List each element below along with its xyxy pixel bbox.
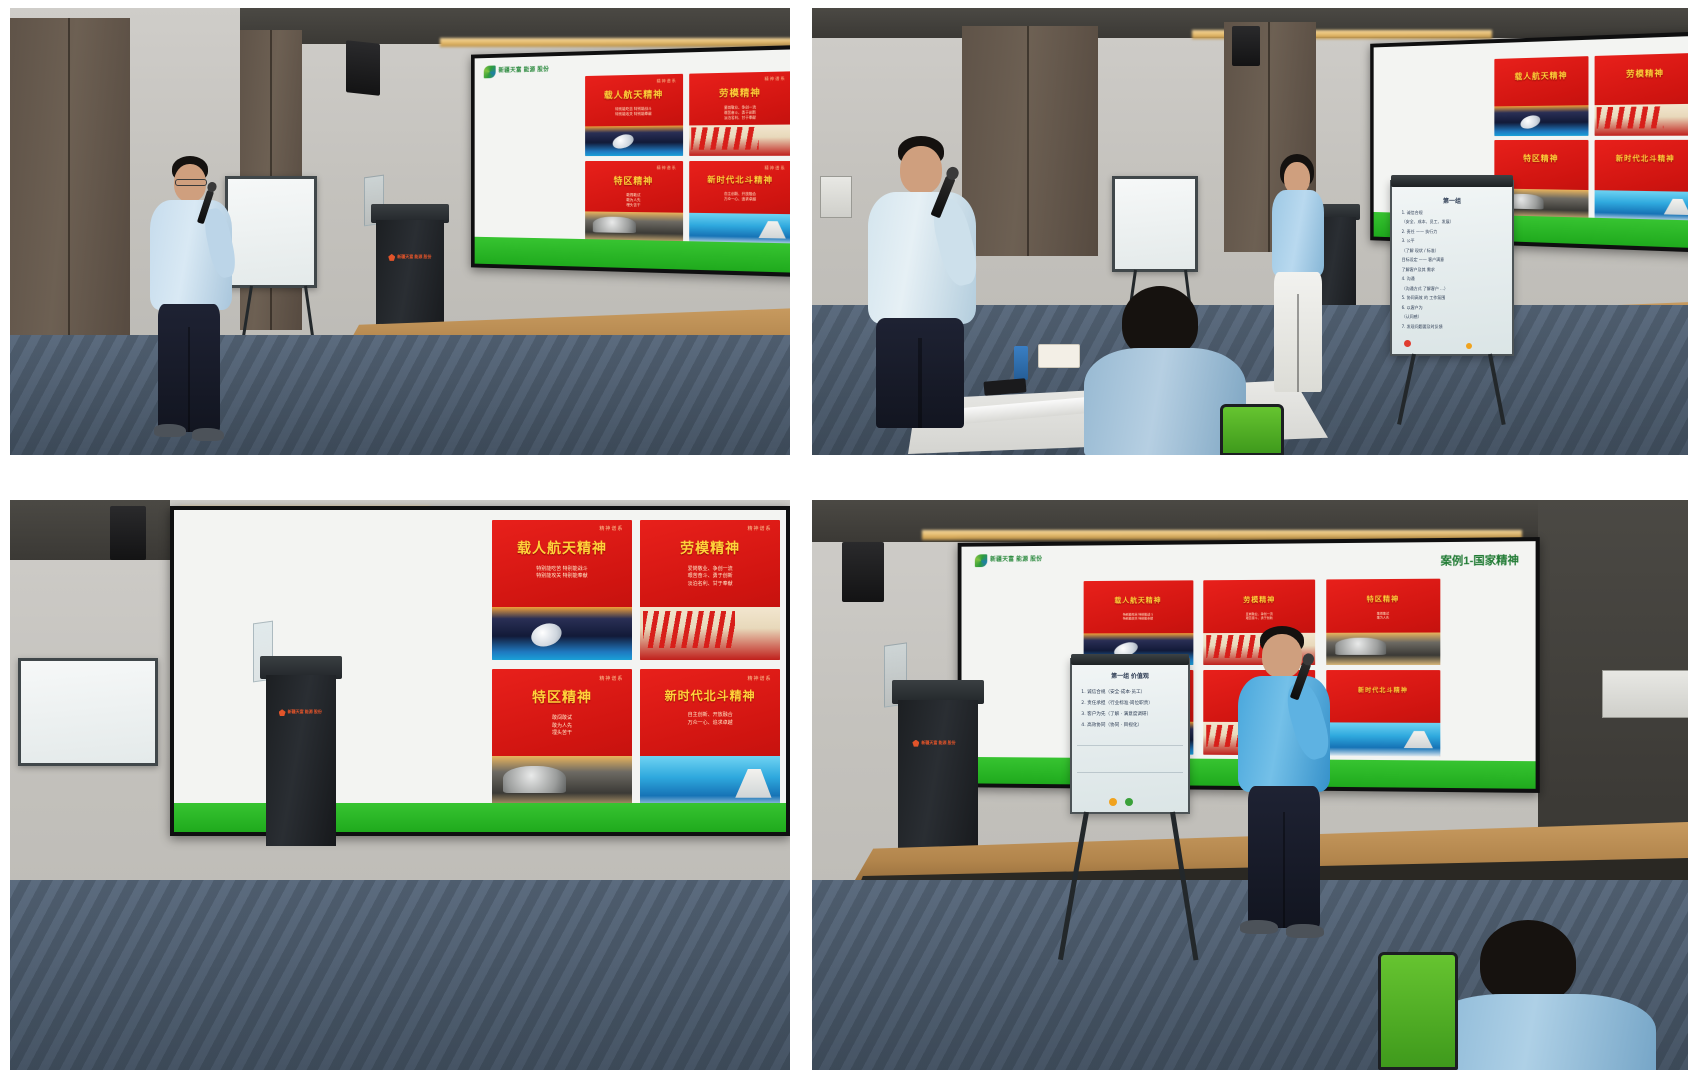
- leaf-icon: [484, 66, 496, 79]
- seated-attendee-right: [1424, 920, 1654, 1070]
- flipchart-note-line: 7. 发现问题要及时反馈: [1402, 324, 1505, 329]
- poster-subtitle-line: 艰苦奋斗、勇于创新: [1204, 616, 1316, 621]
- poster-card: 载人航天精神 特别能吃苦 特别能战斗 特别能攻关 特别能奉献: [1083, 581, 1193, 665]
- poster-subtitle-line: 埋头苦干: [492, 730, 632, 737]
- magnet-icon: [1466, 343, 1472, 349]
- flame-icon: [279, 709, 286, 716]
- poster-corner-label: 精神谱系: [657, 165, 677, 171]
- flame-icon: [912, 740, 919, 747]
- poster-title: 载人航天精神: [585, 87, 683, 102]
- flipchart-notes: 1. 诚信合规（安全·成本·员工） 2. 责任承担（行业标准·岗位职责） 3. …: [1081, 690, 1181, 734]
- magnet-icon: [1109, 798, 1117, 806]
- poster-subtitle-line: 特别能攻关 特别能奉献: [492, 573, 632, 580]
- poster-image-parade: [689, 124, 790, 156]
- poster-subtitle: 自主创新、开放融合 万众一心、追求卓越: [689, 192, 790, 203]
- poster-subtitle-line: 淡泊名利、甘于奉献: [689, 115, 790, 121]
- poster-image-astronaut: [492, 607, 632, 660]
- magnet-icon: [1125, 798, 1133, 806]
- flipchart-note-line: （沟通方式 了解客户 ...）: [1402, 286, 1505, 291]
- flipchart-note-line: 2. 责任承担（行业标准·岗位职责）: [1081, 701, 1181, 708]
- poster-grid: 精神谱系 载人航天精神 特别能吃苦 特别能战斗 特别能攻关 特别能奉献 精神谱系…: [492, 520, 780, 810]
- presenter-female: [1264, 154, 1354, 404]
- poster-title: 载人航天精神: [1083, 595, 1193, 605]
- whiteboard: [1112, 176, 1198, 272]
- presenter-shoe: [1286, 924, 1324, 938]
- wall-panel: [820, 176, 852, 218]
- poster-subtitle-line: 特别能攻关 特别能奉献: [585, 112, 683, 118]
- presenter: [132, 156, 252, 455]
- poster-subtitle-line: 艰苦奋斗、勇于创新: [640, 573, 780, 580]
- flipchart-note-line: 5. 协同高效 的 工作氛围: [1402, 295, 1505, 300]
- poster-image-parade: [1595, 104, 1688, 136]
- poster-subtitle-line: 埋头苦干: [585, 203, 683, 209]
- poster-subtitle-line: 特别能攻关 特别能奉献: [1083, 616, 1193, 621]
- poster-image-city: [585, 211, 683, 243]
- poster-title: 劳模精神: [1595, 66, 1688, 80]
- leaf-icon: [975, 554, 987, 567]
- poster-subtitle-line: 淡泊名利、甘于奉献: [640, 581, 780, 588]
- poster-card: 精神谱系 载人航天精神 特别能吃苦 特别能战斗 特别能攻关 特别能奉献: [492, 520, 632, 661]
- presenter-shoe: [1240, 920, 1278, 934]
- poster-corner-label: 精神谱系: [747, 675, 771, 682]
- wall-right-panel: [1538, 500, 1688, 830]
- poster-subtitle-line: 敢为人先: [1326, 615, 1440, 620]
- poster-title: 劳模精神: [689, 85, 790, 100]
- flipchart-note-line: 了解客户及其 需求: [1402, 267, 1505, 272]
- podium-logo: 新疆天富 能源 股份: [912, 740, 955, 747]
- poster-title: 特区精神: [492, 687, 632, 707]
- wood-door-left: [10, 18, 130, 368]
- led-screen: 新疆天富 能源 股份 精神谱系 载人航天精神 特别能吃苦 特别能战斗 特别能攻关…: [471, 45, 790, 277]
- glasses-icon: [175, 179, 207, 186]
- ceiling-speaker-icon: [110, 506, 146, 560]
- poster-corner-label: 精神谱系: [657, 78, 677, 84]
- photo-bottom-right[interactable]: 新疆天富 能源 股份 案例1-国家精神 载人航天精神 特别能吃苦 特别能战斗 特…: [812, 500, 1688, 1070]
- slide-title: 案例1-国家精神: [1441, 552, 1519, 569]
- flipchart-note-line: 4. 高效协同（协同 · 目视化）: [1081, 723, 1181, 730]
- poster-image-astronaut: [585, 125, 683, 156]
- poster-corner-label: 精神谱系: [747, 525, 771, 532]
- flipchart-note-line: （安全、成本、员工、发展）: [1402, 219, 1505, 224]
- podium-logo-text: 新疆天富 能源 股份: [288, 710, 322, 714]
- poster-card: 精神谱系 新时代北斗精神 自主创新、开放融合 万众一心、追求卓越: [640, 669, 780, 810]
- poster-subtitle-line: 敢为人先: [492, 723, 632, 730]
- poster-subtitle-line: 万众一心、追求卓越: [689, 197, 790, 203]
- flipchart-note-line: 1. 诚信合规（安全·成本·员工）: [1081, 690, 1181, 697]
- poster-title: 新时代北斗精神: [640, 687, 780, 704]
- slide-logo-text: 新疆天富 能源 股份: [498, 67, 549, 74]
- flipchart-note-line: 3. 公平: [1402, 238, 1505, 243]
- green-chair: [1220, 404, 1284, 455]
- poster-subtitle: 特别能吃苦 特别能战斗 特别能攻关 特别能奉献: [585, 106, 683, 118]
- wall-side-table: [1602, 670, 1688, 718]
- presenter-legs: [158, 304, 220, 432]
- poster-title: 劳模精神: [640, 538, 780, 558]
- flipchart-note-line: 4. 沟通: [1402, 276, 1505, 281]
- ceiling-speaker-icon: [842, 542, 884, 602]
- poster-title: 载人航天精神: [492, 538, 632, 558]
- green-chair: [1378, 952, 1458, 1070]
- poster-title: 载人航天精神: [1494, 69, 1589, 82]
- poster-card: 载人航天精神: [1494, 56, 1589, 136]
- poster-card: 精神谱系 特区精神 敢闯敢试 敢为人先 埋头苦干: [585, 161, 683, 243]
- poster-corner-label: 精神谱系: [765, 75, 786, 82]
- presenter-male: [864, 136, 1014, 436]
- podium-logo-text: 新疆天富 能源 股份: [397, 255, 431, 259]
- flipchart: 第一组 1. 诚信合规 （安全、成本、员工、发展） 2. 责任 —— 执行力 3…: [1390, 180, 1514, 356]
- presenter-head: [900, 146, 942, 194]
- poster-subtitle: 敢闯敢试 敢为人先 埋头苦干: [585, 193, 683, 210]
- poster-subtitle-line: 自主创新、开放融合: [640, 712, 780, 719]
- led-screen-content: 新疆天富 能源 股份 精神谱系 载人航天精神 特别能吃苦 特别能战斗 特别能攻关…: [475, 49, 790, 273]
- poster-title: 劳模精神: [1204, 594, 1316, 605]
- carpet-floor: [10, 335, 790, 455]
- poster-title: 特区精神: [585, 174, 683, 188]
- poster-card: 精神谱系 劳模精神 爱岗敬业、争创一流 艰苦奋斗、勇于创新 淡泊名利、甘于奉献: [640, 520, 780, 661]
- poster-subtitle-line: 万众一心、追求卓越: [640, 720, 780, 727]
- flipchart-notes: 1. 诚信合规 （安全、成本、员工、发展） 2. 责任 —— 执行力 3. 公平…: [1402, 210, 1505, 334]
- poster-card: 劳模精神: [1595, 53, 1688, 136]
- poster-subtitle: 爱岗敬业、争创一流 艰苦奋斗、勇于创新 淡泊名利、甘于奉献: [640, 566, 780, 588]
- poster-subtitle: 特别能吃苦 特别能战斗 特别能攻关 特别能奉献: [1083, 612, 1193, 621]
- slide-logo: 新疆天富 能源 股份: [484, 64, 549, 78]
- poster-title: 特区精神: [1326, 594, 1440, 605]
- flipchart-note-line: （认同感）: [1402, 314, 1505, 319]
- flipchart-note-line: 6. 以客户为: [1402, 305, 1505, 310]
- podium-logo-text: 新疆天富 能源 股份: [921, 741, 955, 745]
- cove-light: [440, 38, 790, 47]
- poster-card: 新时代北斗精神: [1595, 140, 1688, 222]
- flipchart-title: 第一组: [1392, 196, 1512, 205]
- wall-upper-band: [10, 500, 170, 560]
- slide-logo: 新疆天富 能源 股份: [975, 554, 1042, 567]
- poster-image-parade: [640, 607, 780, 660]
- poster-card: 精神谱系 特区精神 敢闯敢试 敢为人先 埋头苦干: [492, 669, 632, 810]
- attendee-head: [1480, 920, 1576, 1004]
- flipchart: 第一组 价值观 1. 诚信合规（安全·成本·员工） 2. 责任承担（行业标准·岗…: [1070, 658, 1190, 814]
- poster-grid: 精神谱系 载人航天精神 特别能吃苦 特别能战斗 特别能攻关 特别能奉献 精神谱系…: [585, 72, 790, 246]
- poster-corner-label: 精神谱系: [765, 165, 786, 171]
- poster-card: 精神谱系 劳模精神 爱岗敬业、争创一流 艰苦奋斗、勇于创新 淡泊名利、甘于奉献: [689, 72, 790, 157]
- photo-top-left[interactable]: 新疆天富 能源 股份 精神谱系 载人航天精神 特别能吃苦 特别能战斗 特别能攻关…: [10, 8, 790, 455]
- flipchart-board: 第一组 价值观 1. 诚信合规（安全·成本·员工） 2. 责任承担（行业标准·岗…: [1070, 658, 1190, 814]
- poster-card: 精神谱系 载人航天精神 特别能吃苦 特别能战斗 特别能攻关 特别能奉献: [585, 74, 683, 156]
- poster-corner-label: 精神谱系: [599, 675, 623, 682]
- poster-corner-label: 精神谱系: [599, 525, 623, 532]
- poster-image-astronaut: [1494, 105, 1589, 135]
- flipchart-fold-line: [1077, 772, 1184, 773]
- presenter-torso: [1272, 190, 1324, 276]
- flipchart-fold-line: [1077, 745, 1184, 746]
- photo-collage: 新疆天富 能源 股份 精神谱系 载人航天精神 特别能吃苦 特别能战斗 特别能攻关…: [0, 0, 1698, 1078]
- attendee-body: [1424, 994, 1656, 1070]
- photo-bottom-left[interactable]: 精神谱系 载人航天精神 特别能吃苦 特别能战斗 特别能攻关 特别能奉献 精神谱系…: [10, 500, 790, 1070]
- presenter-legs: [1248, 786, 1320, 928]
- poster-card: 精神谱系 新时代北斗精神 自主创新、开放融合 万众一心、追求卓越: [689, 161, 790, 245]
- podium-logo: 新疆天富 能源 股份: [279, 709, 322, 716]
- poster-subtitle-line: 敢闯敢试: [492, 715, 632, 722]
- carpet-floor: [10, 880, 790, 1070]
- poster-subtitle: 敢闯敢试 敢为人先: [1326, 611, 1440, 620]
- flipchart-note-line: 目标设定 —— 客户满意: [1402, 257, 1505, 262]
- flipchart-note-line: 3. 客户为先（了解 · 满意度调研）: [1081, 712, 1181, 719]
- poster-title: 新时代北斗精神: [1595, 153, 1688, 164]
- flipchart-note-line: 2. 责任 —— 执行力: [1402, 229, 1505, 234]
- presenter-legs: [876, 318, 964, 428]
- poster-title: 特区精神: [1494, 153, 1589, 165]
- poster-image-satellite: [640, 756, 780, 809]
- water-bottle: [1014, 346, 1028, 380]
- photo-top-right[interactable]: 载人航天精神 劳模精神 特区精神 新时代北斗精神: [812, 8, 1688, 455]
- podium-body: 新疆天富 能源 股份: [266, 675, 336, 846]
- presenter: [1230, 626, 1360, 936]
- flipchart-note-line: 1. 诚信合规: [1402, 210, 1505, 215]
- screen-green-band: [475, 237, 790, 273]
- flipchart-clamp: [1071, 654, 1189, 665]
- presenter-shoe: [154, 424, 186, 437]
- poster-subtitle: 爱岗敬业、争创一流 艰苦奋斗、勇于创新: [1204, 611, 1316, 620]
- presenter-shoe: [192, 428, 224, 441]
- presenter-head: [1262, 634, 1302, 678]
- flame-icon: [388, 254, 395, 261]
- name-card: [1038, 344, 1080, 368]
- flipchart-board: 第一组 1. 诚信合规 （安全、成本、员工、发展） 2. 责任 —— 执行力 3…: [1390, 180, 1514, 356]
- ceiling-speaker-icon: [1232, 26, 1260, 66]
- magnet-icon: [1404, 340, 1411, 347]
- flipchart-title: 第一组 价值观: [1072, 671, 1188, 680]
- slide-logo-text: 新疆天富 能源 股份: [990, 557, 1042, 564]
- ceiling-speaker-icon: [346, 40, 380, 96]
- whiteboard: [18, 658, 158, 766]
- podium: 新疆天富 能源 股份: [266, 656, 336, 846]
- podium-logo: 新疆天富 能源 股份: [388, 254, 431, 261]
- presenter-legs: [1274, 272, 1322, 392]
- poster-subtitle: 敢闯敢试 敢为人先 埋头苦干: [492, 715, 632, 737]
- flipchart-clamp: [1391, 175, 1513, 187]
- poster-grid: 载人航天精神 劳模精神 特区精神 新时代北斗精神: [1494, 53, 1688, 223]
- poster-subtitle: 自主创新、开放融合 万众一心、追求卓越: [640, 712, 780, 727]
- poster-subtitle: 特别能吃苦 特别能战斗 特别能攻关 特别能奉献: [492, 566, 632, 581]
- flipchart-note-line: （了解 现状 / 标准）: [1402, 248, 1505, 253]
- poster-title: 新时代北斗精神: [689, 174, 790, 186]
- poster-image-city: [492, 756, 632, 809]
- poster-subtitle: 爱岗敬业、争创一流 艰苦奋斗、勇于创新 淡泊名利、甘于奉献: [689, 105, 790, 122]
